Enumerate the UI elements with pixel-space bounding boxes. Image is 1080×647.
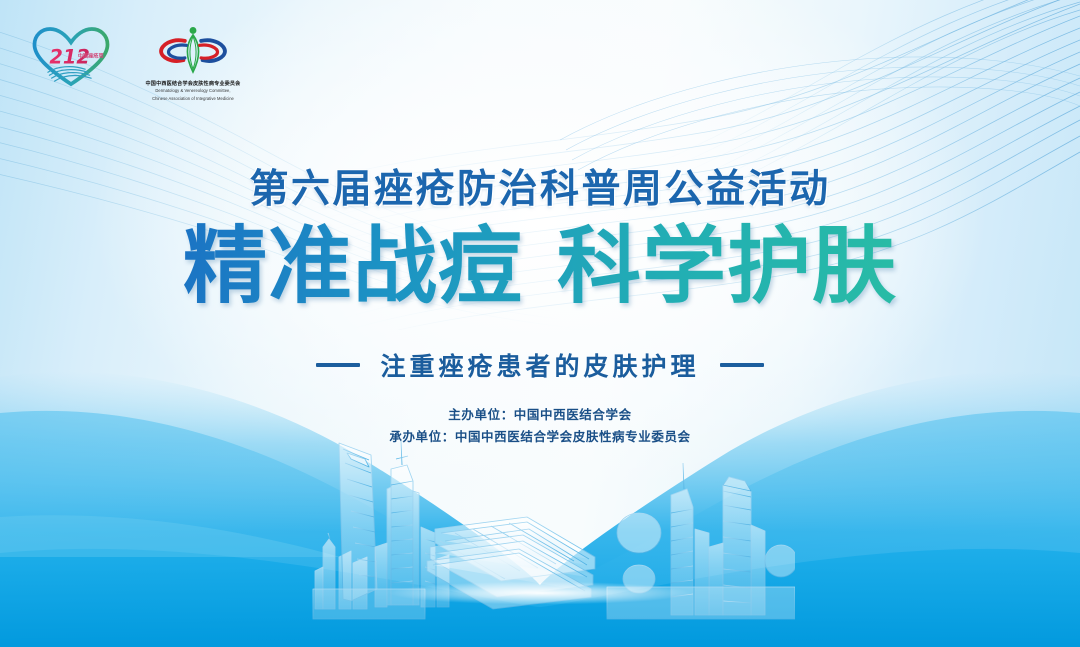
shanghai-skyline-illustration — [295, 429, 795, 629]
caim-english-line-1: Dermatology & Venereology Committee, — [134, 88, 252, 94]
green-dot-icon — [190, 27, 197, 34]
main-slogan-part-1: 精准战痘 — [183, 217, 523, 315]
212-heart-logo: 212 中国痤疮周 — [30, 26, 112, 88]
undertaker-line: 承办单位：中国中西医结合学会皮肤性病专业委员会 — [0, 426, 1080, 448]
caim-dermatology-logo: 中国中西医结合学会皮肤性病专业委员会 Dermatology & Venereo… — [134, 26, 252, 102]
main-slogan-part-2: 科学护肤 — [557, 217, 897, 315]
subtitle-row: 注重痤疮患者的皮肤护理 — [0, 347, 1080, 383]
dash-left-icon — [316, 363, 360, 367]
dash-right-icon — [720, 363, 764, 367]
caim-chinese-name: 中国中西医结合学会皮肤性病专业委员会 — [134, 81, 252, 87]
subtitle-text: 注重痤疮患者的皮肤护理 — [380, 347, 699, 383]
caim-english-line-2: Chinese Association of Integrative Medic… — [134, 96, 252, 102]
poster-canvas: 212 中国痤疮周 中国中西医结合学会皮 — [0, 0, 1080, 647]
organizer-block: 主办单位：中国中西医结合学会 承办单位：中国中西医结合学会皮肤性病专业委员会 — [0, 404, 1080, 447]
main-slogan: 精准战痘科学护肤 — [0, 222, 1080, 311]
organizer-line: 主办单位：中国中西医结合学会 — [0, 404, 1080, 426]
logo-bar: 212 中国痤疮周 中国中西医结合学会皮 — [30, 26, 252, 102]
event-headline: 第六届痤疮防治科普周公益活动 — [0, 158, 1080, 214]
